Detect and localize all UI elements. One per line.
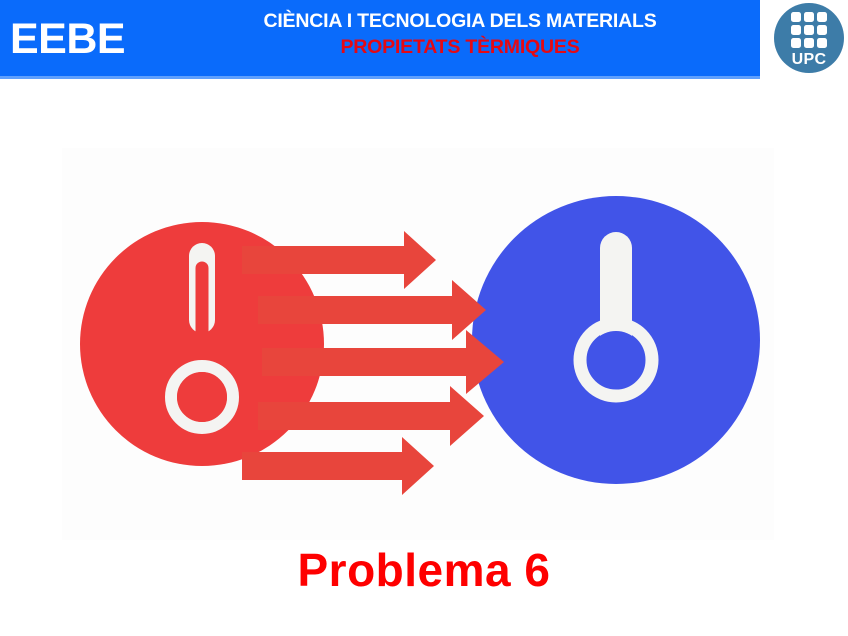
page-subtitle: PROPIETATS TÈRMIQUES [175,34,745,60]
header-title-block: CIÈNCIA I TECNOLOGIA DELS MATERIALS PROP… [175,8,745,60]
upc-logo: UPC [774,3,844,73]
upc-dot [791,12,801,22]
heat-transfer-illustration [62,148,774,540]
slide-caption: Problema 6 [0,543,848,597]
upc-dot [804,38,814,48]
page-title: CIÈNCIA I TECNOLOGIA DELS MATERIALS [175,8,745,34]
upc-dot [804,25,814,35]
upc-dot [817,25,827,35]
upc-wordmark: UPC [792,51,827,69]
upc-dot [817,12,827,22]
heat-flow-arrows [242,231,504,495]
eebe-logo: EEBE [10,16,170,62]
upc-dot-grid-icon [791,12,827,48]
heat-flow-arrow [242,437,434,495]
upc-dot [791,25,801,35]
upc-dot [817,38,827,48]
heat-transfer-figure [62,148,774,540]
upc-dot [804,12,814,22]
upc-dot [791,38,801,48]
header-underline [0,76,760,79]
